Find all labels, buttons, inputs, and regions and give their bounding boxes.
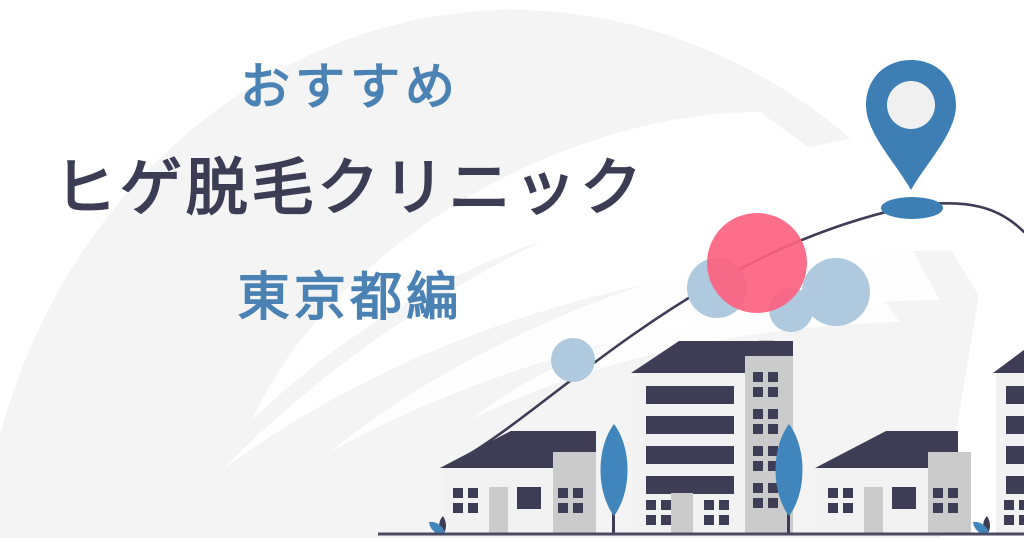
decor-circle-blue-3 [802,258,870,326]
map-pin-icon [866,60,956,190]
tower-center [631,340,793,534]
leaf-2 [973,516,990,534]
house-right [815,431,971,534]
decor-circle-blue-4 [551,338,595,382]
house-left [440,431,596,534]
promo-banner: おすすめ ヒゲ脱毛クリニック 東京都編 [0,0,1024,538]
tree-1 [601,424,628,534]
decor-circle-pink [707,213,807,313]
leaf-1 [429,516,446,534]
route-node-ellipse [881,197,943,219]
city-skyline-map-pin-illustration [0,0,1024,538]
tower-right [993,341,1024,534]
